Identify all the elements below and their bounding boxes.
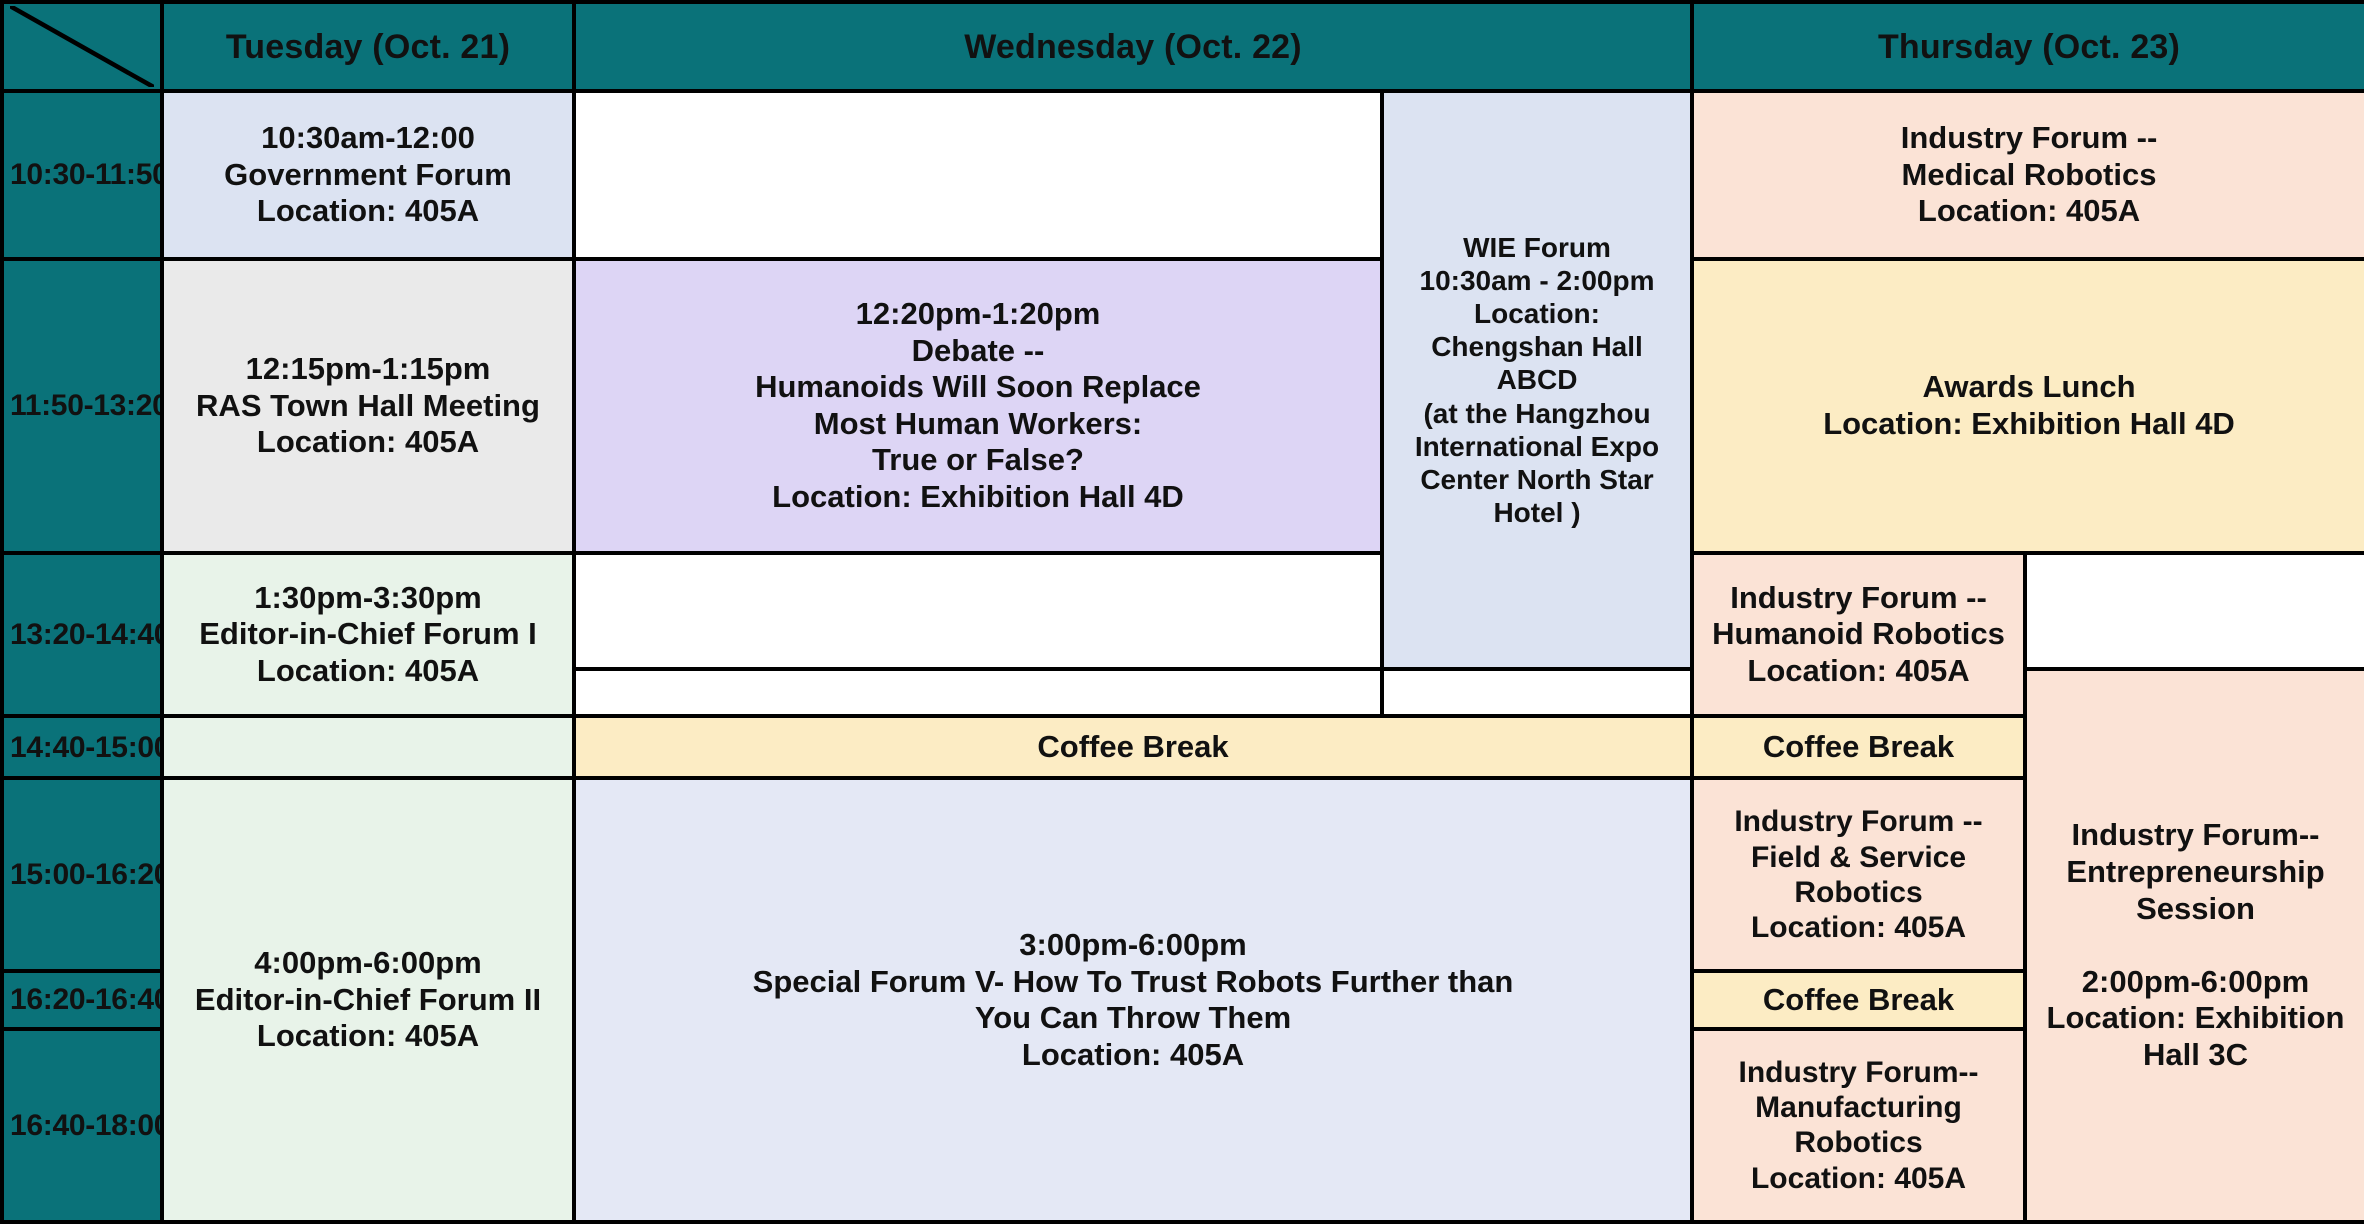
- event-tue-eic-forum-2[interactable]: 4:00pm-6:00pm Editor-in-Chief Forum II L…: [162, 778, 574, 1222]
- event-thu-field-service[interactable]: Industry Forum -- Field & Service Roboti…: [1692, 778, 2025, 971]
- time-label-slot-3: 13:20-14:40: [2, 553, 162, 717]
- event-thu-coffee-break-2[interactable]: Coffee Break: [1692, 971, 2025, 1029]
- time-label-slot-5: 15:00-16:20: [2, 778, 162, 971]
- diagonal-divider-icon: [10, 6, 154, 87]
- event-tue-spacer-1: [162, 716, 574, 778]
- time-label-slot-6: 16:20-16:40: [2, 971, 162, 1029]
- event-wed-blank-top: [574, 91, 1382, 259]
- event-thu-blank-right: [2025, 553, 2364, 669]
- table-row-slot-5: 15:00-16:20 4:00pm-6:00pm Editor-in-Chie…: [2, 778, 2364, 971]
- event-thu-coffee-break-1[interactable]: Coffee Break: [1692, 716, 2025, 778]
- event-wed-blank-thin: [574, 669, 1382, 717]
- event-wed-debate[interactable]: 12:20pm-1:20pm Debate -- Humanoids Will …: [574, 259, 1382, 553]
- event-tue-government-forum[interactable]: 10:30am-12:00 Government Forum Location:…: [162, 91, 574, 259]
- event-thu-manufacturing[interactable]: Industry Forum-- Manufacturing Robotics …: [1692, 1029, 2025, 1222]
- event-wed-wie-forum[interactable]: WIE Forum 10:30am - 2:00pm Location: Che…: [1382, 91, 1692, 668]
- corner-cell: [2, 2, 162, 91]
- table-row-slot-4: 14:40-15:00 Coffee Break Coffee Break: [2, 716, 2364, 778]
- event-wed-blank-mid: [574, 553, 1382, 669]
- time-label-slot-4: 14:40-15:00: [2, 716, 162, 778]
- day-header-tuesday: Tuesday (Oct. 21): [162, 2, 574, 91]
- table-row-slot-3: 13:20-14:40 1:30pm-3:30pm Editor-in-Chie…: [2, 553, 2364, 669]
- event-thu-entrepreneurship[interactable]: Industry Forum-- Entrepreneurship Sessio…: [2025, 669, 2364, 1222]
- day-header-thursday: Thursday (Oct. 23): [1692, 2, 2364, 91]
- schedule-page: Tuesday (Oct. 21) Wednesday (Oct. 22) Th…: [0, 0, 2364, 1224]
- event-wed-wie-blank: [1382, 669, 1692, 717]
- time-label-slot-7: 16:40-18:00: [2, 1029, 162, 1222]
- event-thu-humanoid-robotics[interactable]: Industry Forum -- Humanoid Robotics Loca…: [1692, 553, 2025, 717]
- time-label-slot-1: 10:30-11:50: [2, 91, 162, 259]
- table-row-slot-2: 11:50-13:20 12:15pm-1:15pm RAS Town Hall…: [2, 259, 2364, 553]
- conference-schedule-table: Tuesday (Oct. 21) Wednesday (Oct. 22) Th…: [0, 0, 2364, 1224]
- event-thu-awards-lunch[interactable]: Awards Lunch Location: Exhibition Hall 4…: [1692, 259, 2364, 553]
- event-wed-coffee-break[interactable]: Coffee Break: [574, 716, 1692, 778]
- event-tue-eic-forum-1[interactable]: 1:30pm-3:30pm Editor-in-Chief Forum I Lo…: [162, 553, 574, 717]
- event-tue-town-hall[interactable]: 12:15pm-1:15pm RAS Town Hall Meeting Loc…: [162, 259, 574, 553]
- table-row-slot-1: 10:30-11:50 10:30am-12:00 Government For…: [2, 91, 2364, 259]
- day-header-wednesday: Wednesday (Oct. 22): [574, 2, 1692, 91]
- event-wed-special-forum-v[interactable]: 3:00pm-6:00pm Special Forum V- How To Tr…: [574, 778, 1692, 1222]
- table-header-row: Tuesday (Oct. 21) Wednesday (Oct. 22) Th…: [2, 2, 2364, 91]
- time-label-slot-2: 11:50-13:20: [2, 259, 162, 553]
- event-thu-medical-robotics[interactable]: Industry Forum -- Medical Robotics Locat…: [1692, 91, 2364, 259]
